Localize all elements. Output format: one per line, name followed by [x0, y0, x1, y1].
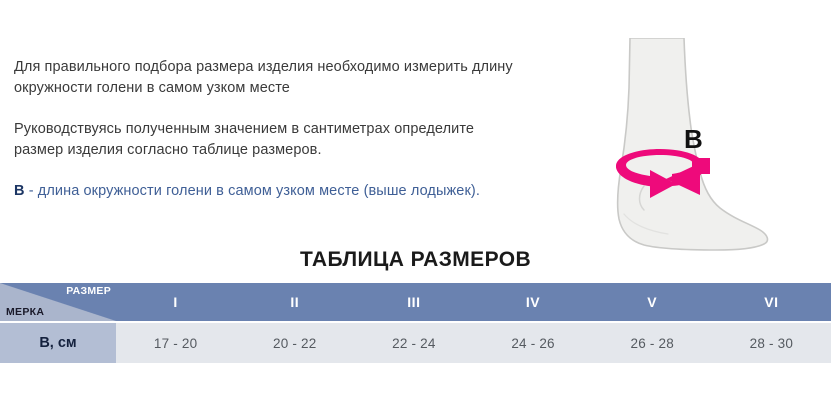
size-table-body: В, см 17 - 20 20 - 22 22 - 24 24 - 26 26…	[0, 322, 831, 363]
size-column-header-5: V	[593, 283, 712, 322]
size-guide-page: Для правильного подбора размера изделия …	[0, 0, 831, 415]
size-column-header-6: VI	[712, 283, 831, 322]
measurement-label-b: B	[684, 126, 703, 152]
size-column-header-1: I	[116, 283, 235, 322]
size-value-3: 22 - 24	[354, 322, 473, 363]
corner-size-label: РАЗМЕР	[66, 285, 111, 297]
measurement-definition-text: - длина окружности голени в самом узком …	[25, 183, 480, 199]
measurement-marker-letter: В	[14, 183, 25, 199]
size-table: РАЗМЕР МЕРКА I II III IV V VI В, см 17 -…	[0, 283, 831, 363]
size-column-header-4: IV	[473, 283, 592, 322]
corner-measure-label: МЕРКА	[6, 306, 44, 318]
row-label-measurement: В, см	[0, 322, 116, 363]
leg-ankle-measurement-diagram	[588, 38, 778, 260]
size-table-corner-cell: РАЗМЕР МЕРКА	[0, 283, 116, 322]
size-table-header-row: РАЗМЕР МЕРКА I II III IV V VI	[0, 283, 831, 322]
size-value-1: 17 - 20	[116, 322, 235, 363]
instruction-paragraph-2: Руководствуясь полученным значением в са…	[14, 119, 514, 161]
size-column-header-3: III	[354, 283, 473, 322]
size-table-head: РАЗМЕР МЕРКА I II III IV V VI	[0, 283, 831, 322]
size-value-2: 20 - 22	[235, 322, 354, 363]
size-value-5: 26 - 28	[593, 322, 712, 363]
size-value-4: 24 - 26	[473, 322, 592, 363]
size-column-header-2: II	[235, 283, 354, 322]
instructions-block: Для правильного подбора размера изделия …	[14, 57, 514, 202]
measurement-definition: В - длина окружности голени в самом узко…	[14, 181, 514, 202]
instruction-paragraph-1: Для правильного подбора размера изделия …	[14, 57, 514, 99]
size-table-title: ТАБЛИЦА РАЗМЕРОВ	[0, 248, 831, 272]
table-row: В, см 17 - 20 20 - 22 22 - 24 24 - 26 26…	[0, 322, 831, 363]
size-value-6: 28 - 30	[712, 322, 831, 363]
